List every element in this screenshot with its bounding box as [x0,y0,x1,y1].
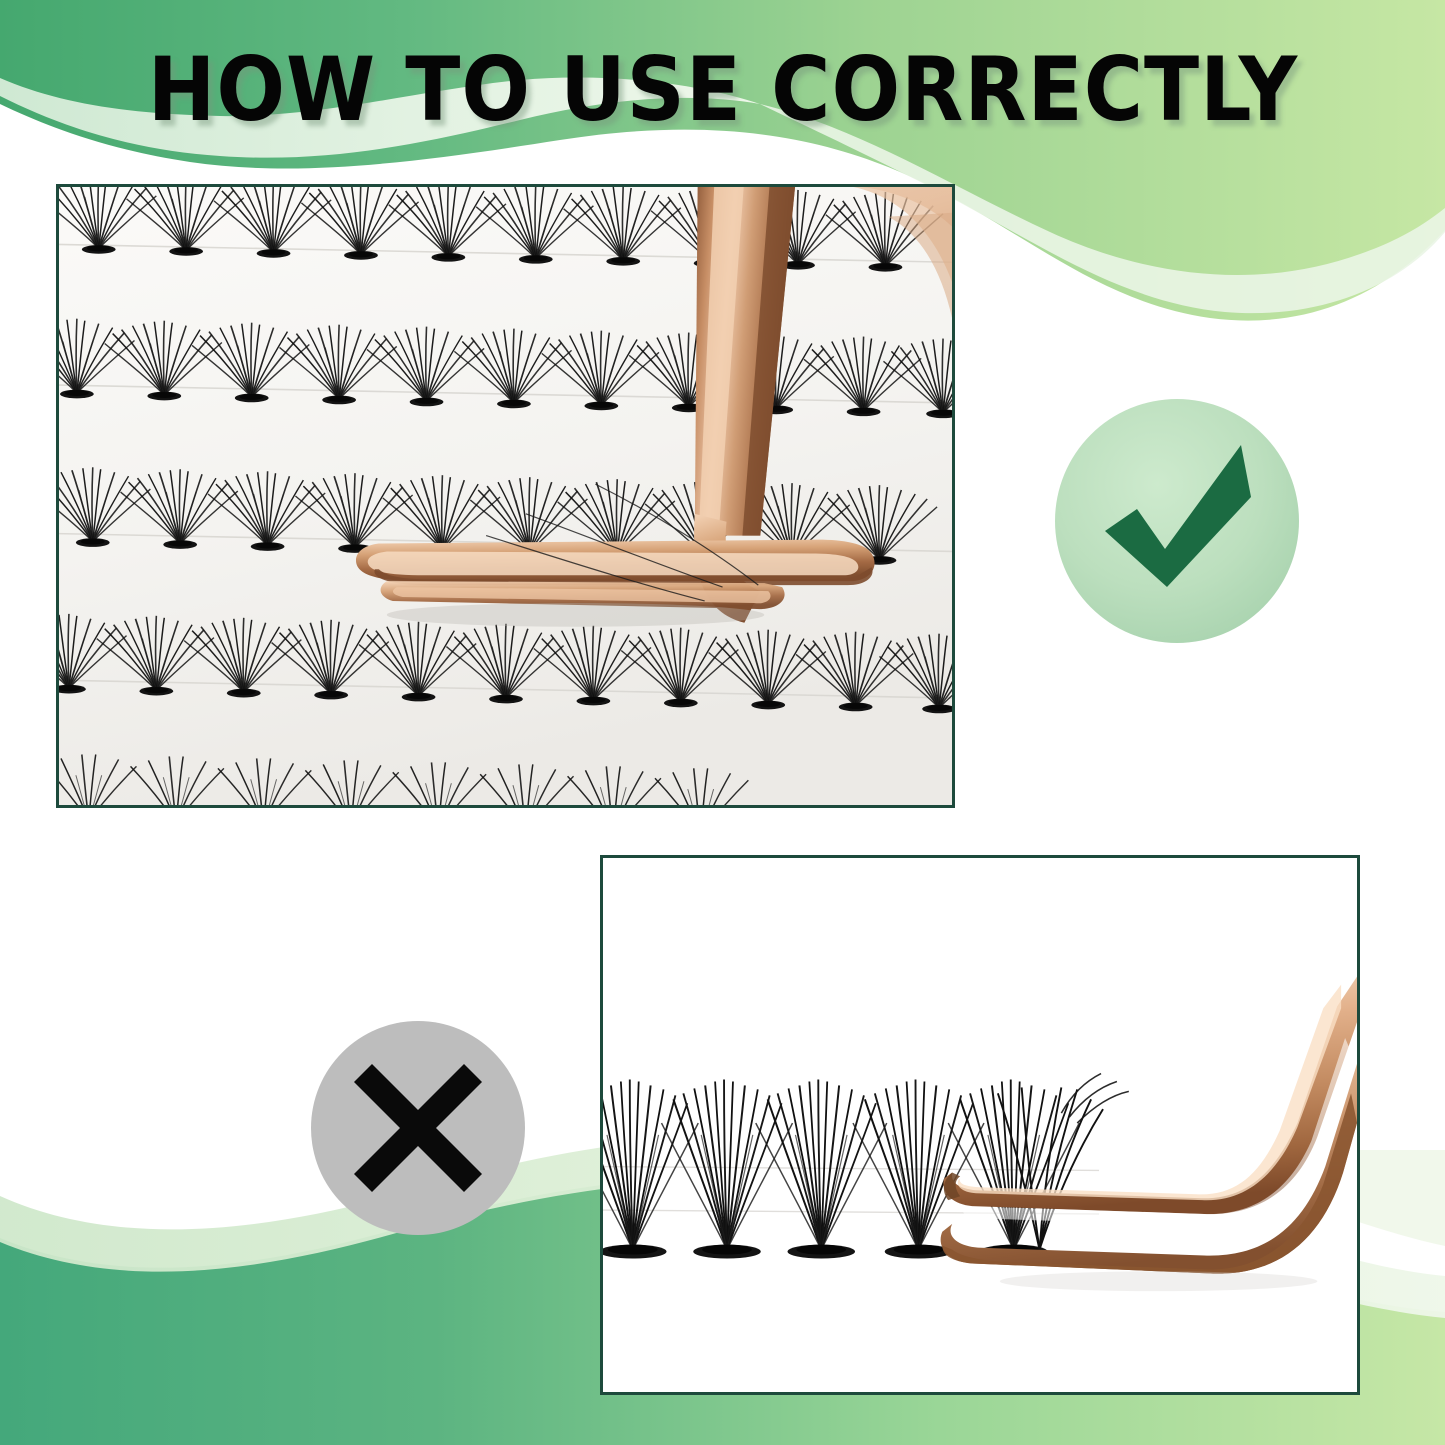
check-badge-circle [1055,399,1299,643]
incorrect-usage-photo [600,855,1360,1395]
correct-usage-photo [56,184,955,808]
infographic-poster: HOW TO USE CORRECTLY [0,0,1445,1445]
page-title: HOW TO USE CORRECTLY [0,46,1445,134]
incorrect-usage-photo-image [603,858,1357,1392]
correct-usage-photo-image [59,187,952,805]
page-title-text: HOW TO USE CORRECTLY [147,46,1297,134]
check-badge [1053,397,1301,645]
cross-badge [310,1020,526,1236]
